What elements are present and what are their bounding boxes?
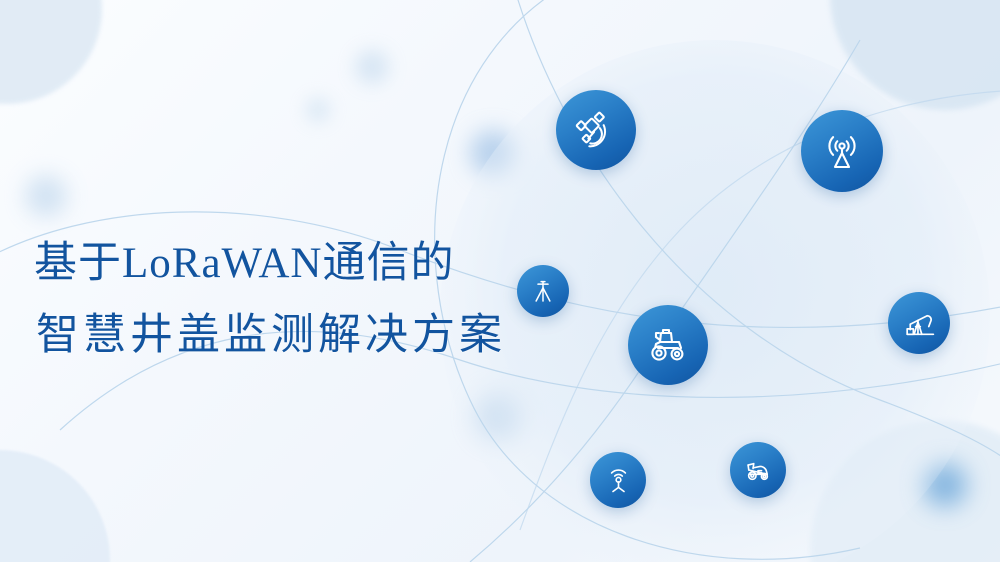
decor-dot [355,50,389,84]
survey-tripod-icon [528,276,558,306]
node-satellite[interactable] [556,90,636,170]
decor-circle-top-left [0,0,102,104]
decor-dot [305,97,331,123]
harvester-icon [741,453,775,487]
sensor-beacon-icon [602,464,635,497]
oil-pump-icon [901,305,938,342]
decor-circle-bottom-right [810,420,1000,562]
node-tractor[interactable] [628,305,708,385]
node-antenna-tower[interactable] [801,110,883,192]
title-line-2: 智慧井盖监测解决方案 [34,300,506,372]
node-harvester[interactable] [730,442,786,498]
slide-title: 基于LoRaWAN通信的 智慧井盖监测解决方案 [34,228,506,372]
decor-circle-top-right [830,0,1000,110]
orbit-path [512,0,1000,485]
antenna-tower-icon [818,127,866,175]
decor-dot [25,175,67,217]
node-oil-pump[interactable] [888,292,950,354]
decor-dot [923,463,967,507]
title-line-1: 基于LoRaWAN通信的 [34,228,506,300]
decor-dot [470,130,516,176]
presentation-slide: 基于LoRaWAN通信的 智慧井盖监测解决方案 [0,0,1000,562]
tractor-icon [644,321,692,369]
node-survey-tripod[interactable] [517,265,569,317]
decor-dot [475,392,523,440]
node-sensor-beacon[interactable] [590,452,646,508]
satellite-icon [573,107,619,153]
decor-circle-bottom-left [0,450,110,562]
